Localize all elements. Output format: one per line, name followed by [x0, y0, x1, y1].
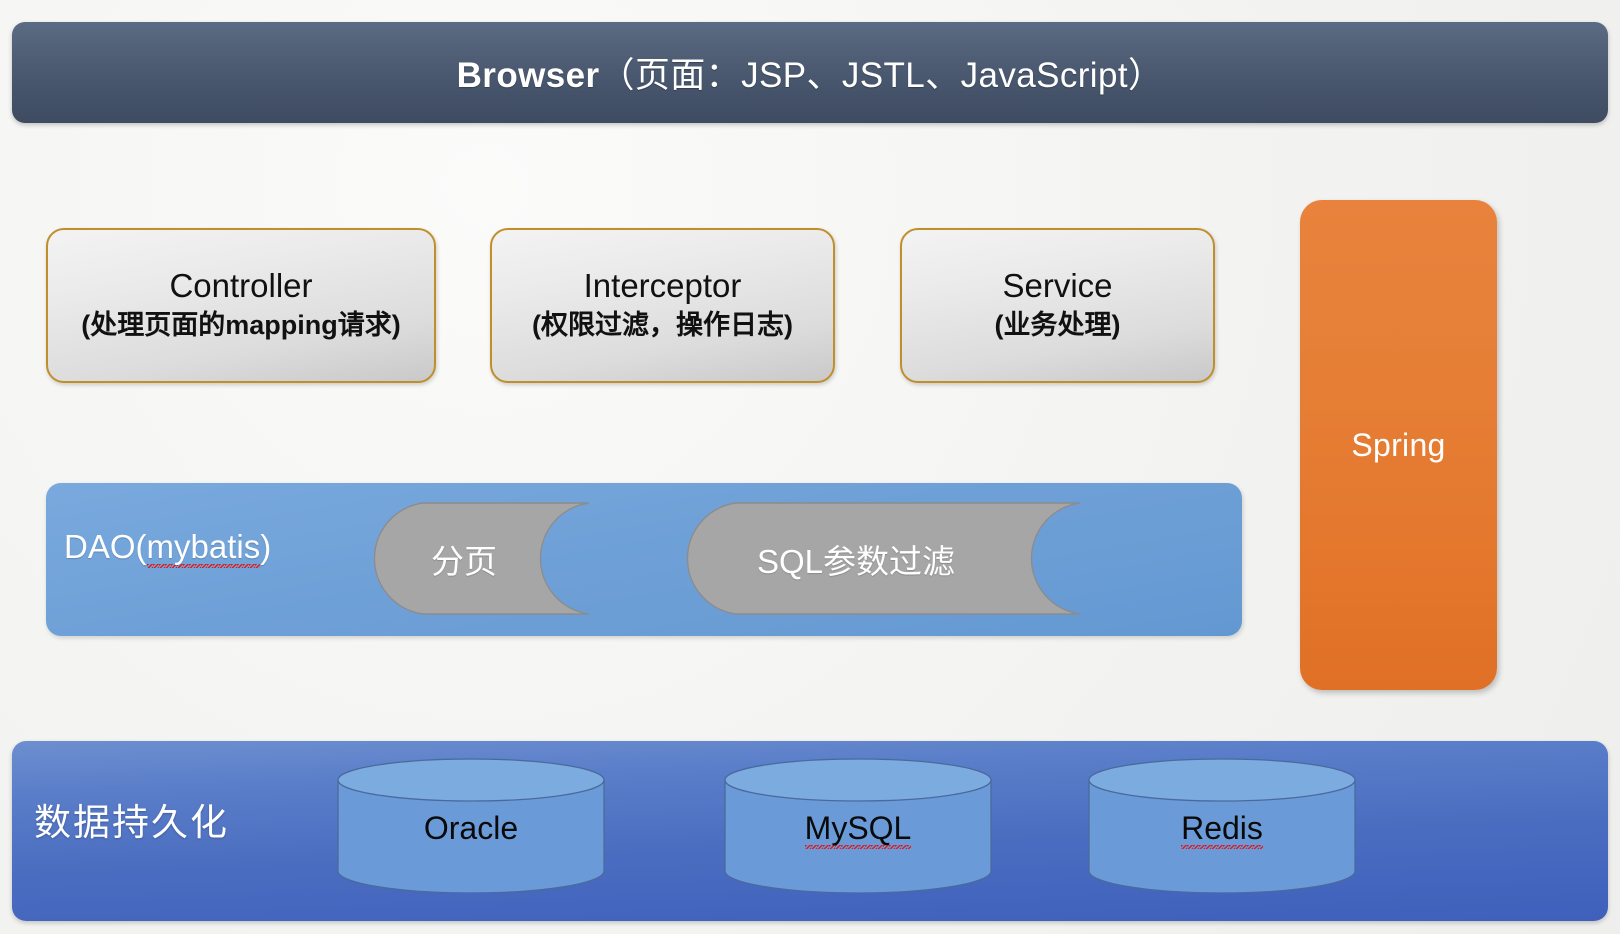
- browser-layer-title: Browser（页面：JSP、JSTL、JavaScript）: [457, 47, 1164, 98]
- redis-misspelled-word: Redis: [1181, 810, 1263, 849]
- layer-box-service[interactable]: Service (业务处理): [900, 228, 1215, 383]
- database-cylinder-oracle[interactable]: Oracle: [337, 758, 605, 893]
- oracle-label: Oracle: [337, 810, 605, 847]
- interceptor-subtitle: (权限过滤，操作日志): [532, 308, 793, 343]
- dao-layer-label: DAO(mybatis): [64, 528, 271, 566]
- mybatis-misspelled-word: mybatis: [147, 528, 261, 568]
- dao-prefix: DAO(: [64, 528, 147, 565]
- interceptor-title: Interceptor: [584, 267, 742, 306]
- service-subtitle: (业务处理): [995, 308, 1121, 343]
- mysql-label: MySQL: [724, 810, 992, 847]
- spring-framework-box[interactable]: Spring: [1300, 200, 1497, 690]
- persistence-layer-label: 数据持久化: [34, 792, 229, 846]
- dao-feature-sql-param-filter[interactable]: SQL参数过滤: [680, 502, 1080, 615]
- layer-box-interceptor[interactable]: Interceptor (权限过滤，操作日志): [490, 228, 835, 383]
- spring-label: Spring: [1351, 427, 1445, 464]
- pagination-label: 分页: [431, 535, 497, 583]
- mysql-misspelled-word: MySQL: [805, 810, 912, 849]
- redis-label: Redis: [1088, 810, 1356, 847]
- database-cylinder-mysql[interactable]: MySQL: [724, 758, 992, 893]
- controller-title: Controller: [169, 267, 312, 306]
- controller-subtitle: (处理页面的mapping请求): [81, 308, 400, 343]
- sql-param-filter-label: SQL参数过滤: [757, 535, 955, 583]
- browser-label: Browser: [457, 56, 600, 95]
- dao-feature-pagination[interactable]: 分页: [367, 502, 589, 615]
- browser-layer-banner: Browser（页面：JSP、JSTL、JavaScript）: [12, 22, 1608, 123]
- database-cylinder-redis[interactable]: Redis: [1088, 758, 1356, 893]
- browser-technologies-label: （页面：JSP、JSTL、JavaScript）: [599, 56, 1163, 95]
- dao-suffix: ): [260, 528, 271, 565]
- layer-box-controller[interactable]: Controller (处理页面的mapping请求): [46, 228, 436, 383]
- architecture-diagram-canvas: Browser（页面：JSP、JSTL、JavaScript） Controll…: [0, 0, 1620, 934]
- oracle-label-text: Oracle: [424, 810, 518, 846]
- service-title: Service: [1002, 267, 1112, 306]
